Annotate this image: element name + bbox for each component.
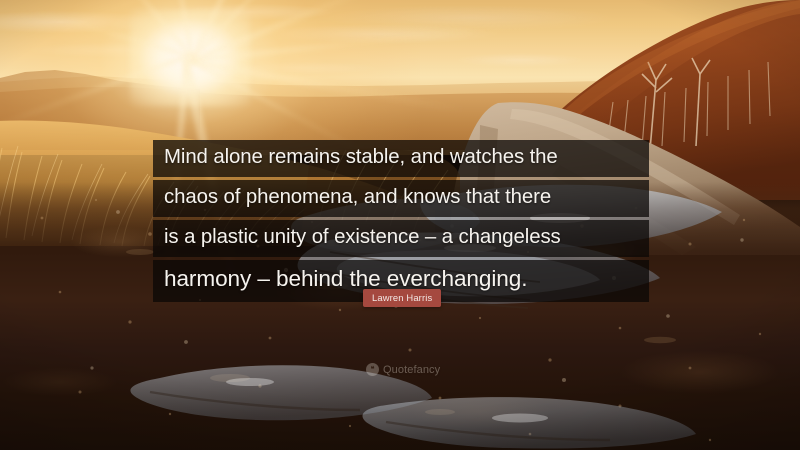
quote-line: chaos of phenomena, and knows that there [153,180,649,217]
quote-line: Mind alone remains stable, and watches t… [153,140,649,177]
author-name-badge[interactable]: Lawren Harris [363,289,441,307]
quote-line: is a plastic unity of existence – a chan… [153,220,649,257]
quote-mark-icon: ❝ [366,363,379,376]
watermark-label: Quotefancy [383,364,440,376]
quotefancy-watermark[interactable]: ❝ Quotefancy [366,363,440,376]
wallpaper-canvas: Mind alone remains stable, and watches t… [0,0,800,450]
quote-text-block: Mind alone remains stable, and watches t… [153,140,649,302]
